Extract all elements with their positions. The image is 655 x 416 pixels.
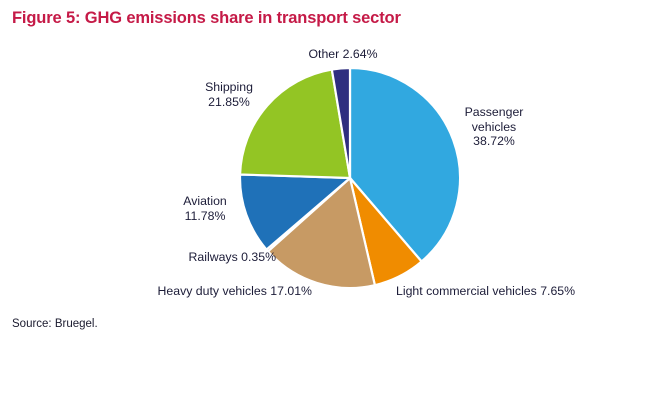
figure-container: Figure 5: GHG emissions share in transpo… — [0, 0, 655, 416]
pie-label-aviation: Aviation 11.78% — [150, 194, 260, 223]
pie-label-railways: Railways 0.35% — [100, 250, 276, 265]
pie-label-light-commercial-text: Light commercial vehicles 7.65% — [396, 284, 646, 299]
pie-label-heavy-duty-text: Heavy duty vehicles 17.01% — [60, 284, 312, 299]
pie-label-shipping: Shipping 21.85% — [174, 80, 284, 109]
pie-label-light-commercial-vehicles: Light commercial vehicles 7.65% — [396, 284, 646, 299]
pie-label-heavy-duty-vehicles: Heavy duty vehicles 17.01% — [60, 284, 312, 299]
pie-label-passenger-name1: Passenger — [438, 105, 550, 120]
pie-label-aviation-name: Aviation — [150, 194, 260, 209]
pie-label-shipping-name: Shipping — [174, 80, 284, 95]
source-note: Source: Bruegel. — [12, 318, 98, 330]
pie-label-other-text: Other 2.64% — [268, 47, 418, 62]
pie-label-shipping-value: 21.85% — [174, 95, 284, 110]
pie-label-railways-text: Railways 0.35% — [100, 250, 276, 265]
pie-label-passenger-value: 38.72% — [438, 134, 550, 149]
pie-chart: Other 2.64% Shipping 21.85% Passenger ve… — [0, 0, 655, 310]
pie-label-passenger-name2: vehicles — [438, 120, 550, 135]
pie-label-passenger-vehicles: Passenger vehicles 38.72% — [438, 105, 550, 149]
pie-label-aviation-value: 11.78% — [150, 209, 260, 224]
pie-label-other: Other 2.64% — [268, 47, 418, 62]
